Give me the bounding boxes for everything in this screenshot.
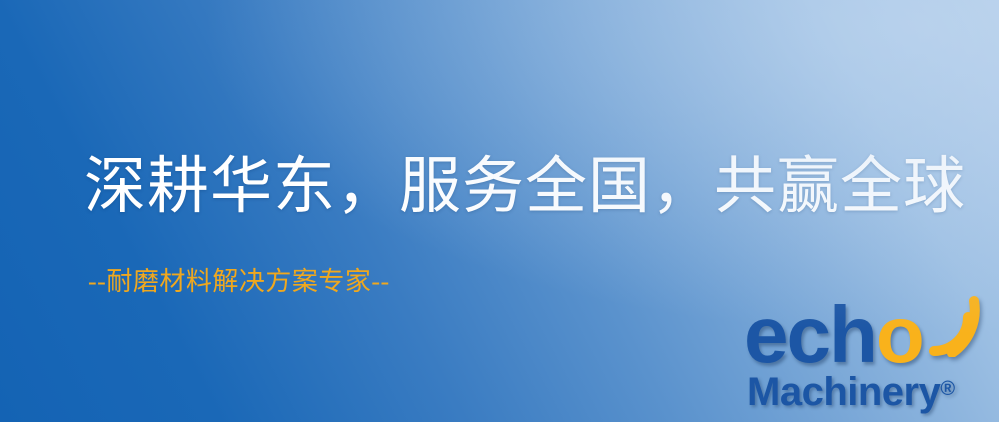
logo-word-ech: ech — [744, 290, 876, 379]
hero-banner: 深耕华东，服务全国，共赢全球 --耐磨材料解决方案专家-- echo Machi… — [0, 0, 999, 422]
wifi-signal-arcs-icon — [912, 295, 982, 357]
banner-headline: 深耕华东，服务全国，共赢全球 — [84, 152, 966, 222]
company-logo[interactable]: echo Machinery® — [744, 296, 999, 422]
logo-wordmark: echo — [744, 296, 923, 374]
registered-trademark-icon: ® — [940, 378, 955, 400]
banner-subheadline: --耐磨材料解决方案专家-- — [88, 266, 390, 298]
logo-tagline: Machinery® — [747, 370, 955, 415]
logo-tagline-text: Machinery — [747, 370, 940, 414]
